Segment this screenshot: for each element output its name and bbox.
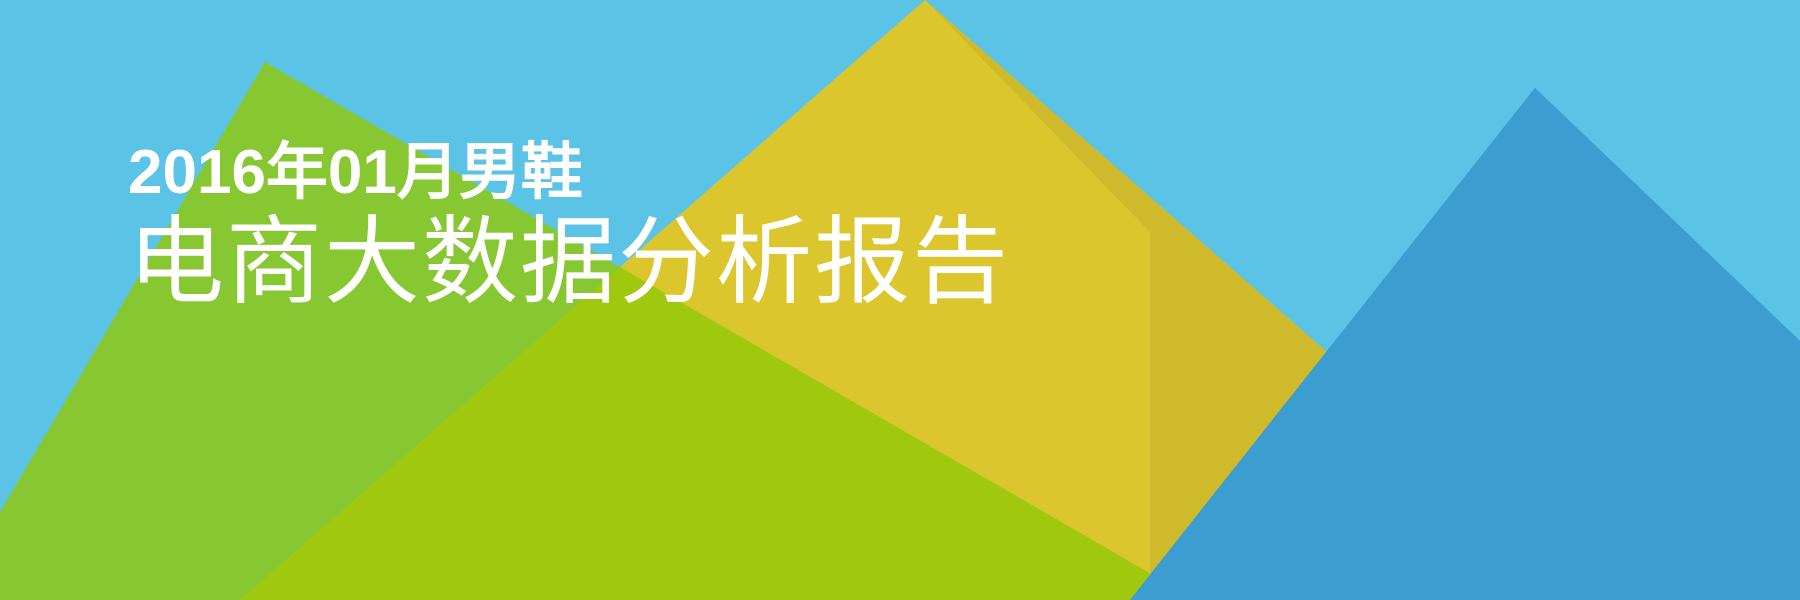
decorative-background [0,0,1800,600]
report-cover-banner: 2016年01月男鞋 电商大数据分析报告 [0,0,1800,600]
